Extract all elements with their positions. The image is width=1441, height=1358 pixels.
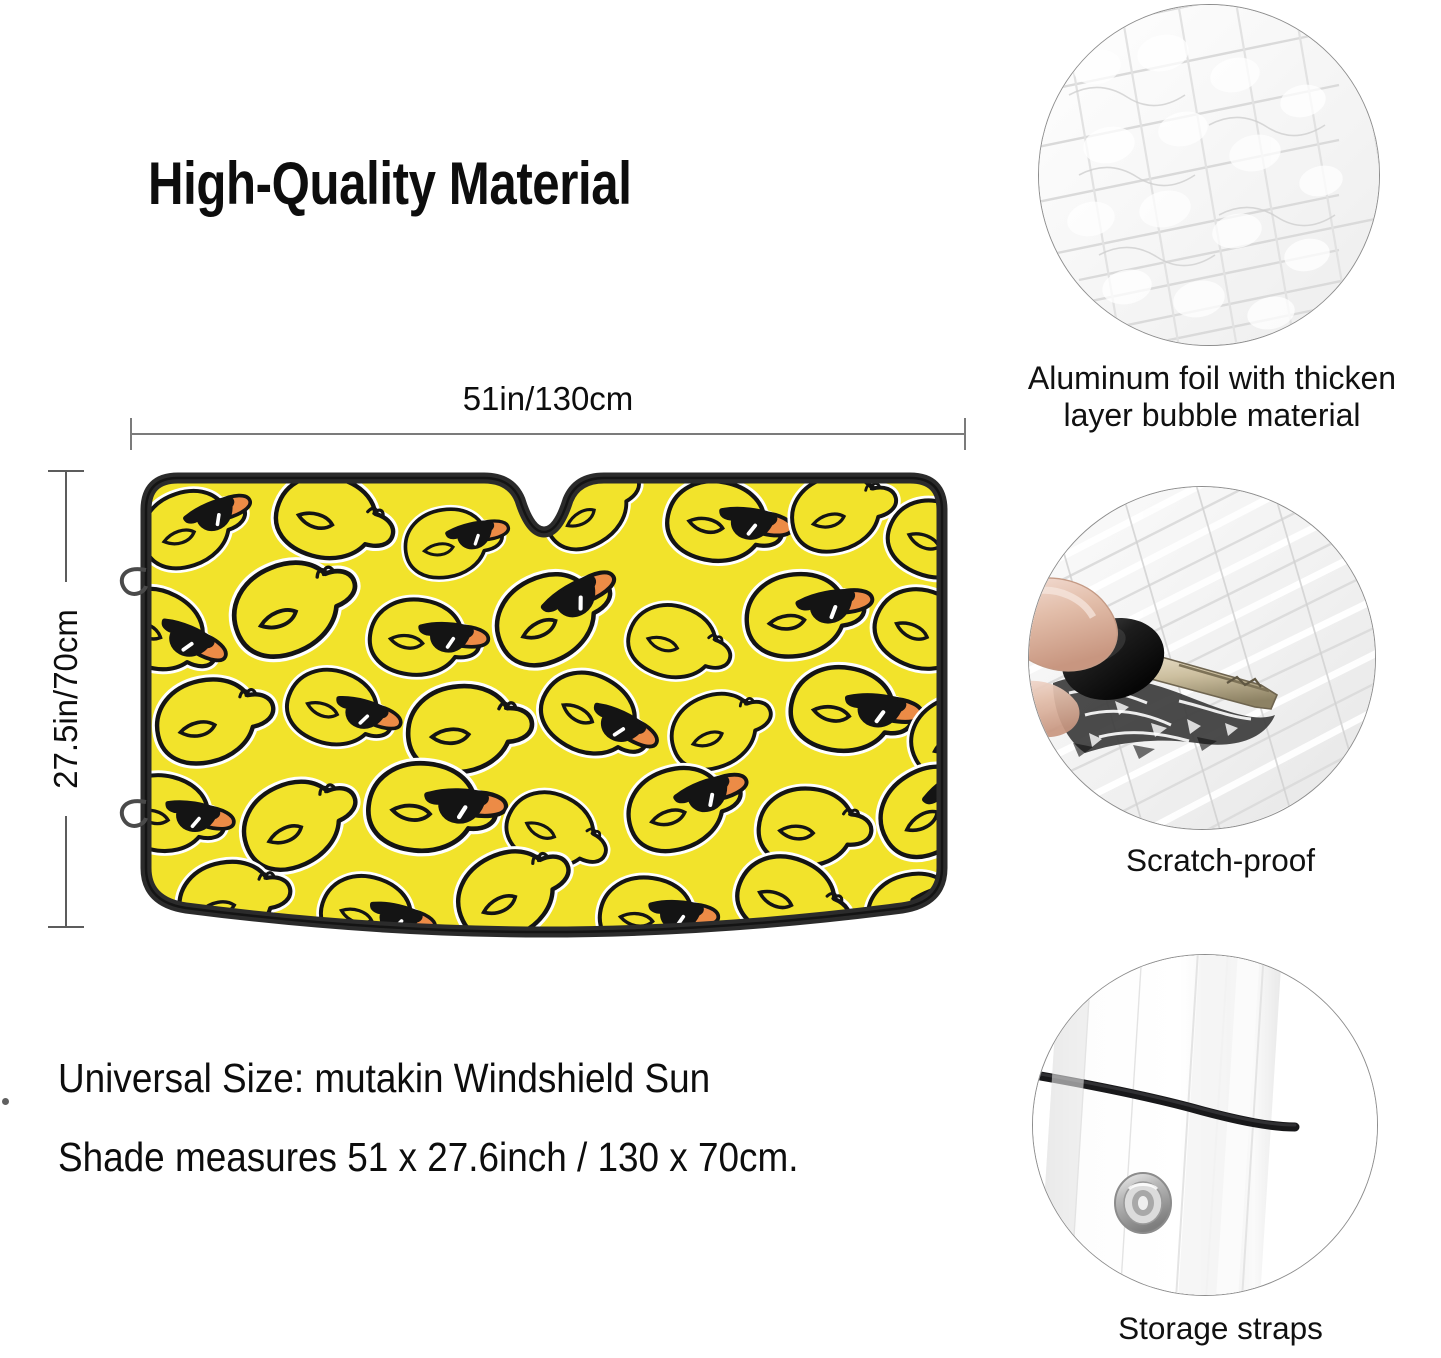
feature-caption-aluminum-foil: Aluminum foil with thicken layer bubble … (972, 360, 1441, 434)
feature-caption-scratch-proof: Scratch-proof (1000, 842, 1441, 879)
duck-pattern-fill (116, 470, 971, 950)
height-dimension-line-bottom (65, 816, 67, 928)
feature-caption-line-2: layer bubble material (972, 397, 1441, 434)
height-dimension-line-top (65, 470, 67, 582)
bubble-foil-texture-icon (1038, 4, 1380, 346)
sunshade-product-image (116, 470, 971, 950)
sunshade-body (116, 470, 971, 950)
left-panel: High-Quality Material 51in/130cm 27.5in/… (0, 0, 1000, 1358)
width-dimension-cap-right (964, 418, 966, 450)
feature-aluminum-foil: Aluminum foil with thicken layer bubble … (1000, 0, 1441, 448)
height-dimension: 27.5in/70cm (36, 466, 96, 932)
height-dimension-label: 27.5in/70cm (47, 609, 85, 789)
feature-column: Aluminum foil with thicken layer bubble … (1000, 0, 1441, 1358)
width-dimension-label: 51in/130cm (130, 380, 966, 418)
key-scratch-test-icon (1028, 486, 1376, 830)
description-line-2: Shade measures 51 x 27.6inch / 130 x 70c… (58, 1137, 940, 1178)
page-title: High-Quality Material (148, 152, 631, 215)
product-description: Universal Size: mutakin Windshield Sun S… (58, 1058, 1038, 1216)
feature-scratch-proof: Scratch-proof (1000, 470, 1441, 900)
feature-caption-line-1: Scratch-proof (1000, 842, 1441, 879)
feature-caption-line-1: Aluminum foil with thicken (972, 360, 1441, 397)
edge-artifact-speck (2, 1098, 9, 1105)
feature-caption-storage-straps: Storage straps (1000, 1310, 1441, 1347)
feature-caption-line-1: Storage straps (1000, 1310, 1441, 1347)
feature-storage-straps: Storage straps (1000, 940, 1441, 1358)
height-dimension-cap-bottom (48, 926, 84, 928)
rolled-shade-strap-icon (1032, 954, 1378, 1296)
description-line-1: Universal Size: mutakin Windshield Sun (58, 1058, 940, 1099)
metal-snap (1115, 1173, 1171, 1233)
width-dimension-line (130, 433, 966, 435)
width-dimension: 51in/130cm (130, 380, 966, 450)
